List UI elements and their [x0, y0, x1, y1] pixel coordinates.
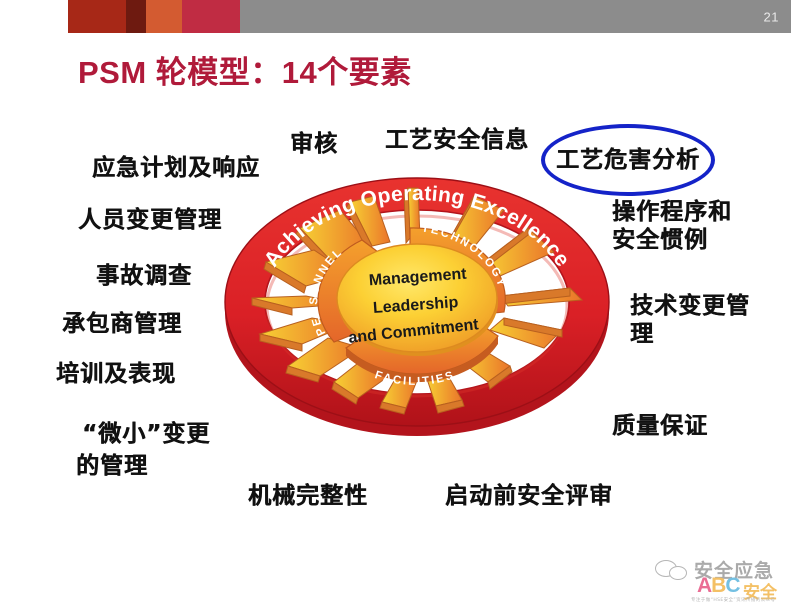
page-title: PSM 轮模型：14个要素 — [78, 47, 412, 92]
label-process-safety-information: 工艺安全信息 — [385, 126, 529, 154]
label-audit: 审核 — [290, 130, 338, 158]
watermark-fine-print: 专注于做“HSE安全”资讯传播的公众号 — [691, 597, 775, 603]
watermark-letter-c: C — [725, 574, 739, 597]
topbar-segment-1 — [68, 0, 126, 33]
label-minor-change-management-line1: “微小”变更 — [82, 420, 210, 448]
topbar-gray-band: 21 — [240, 0, 791, 33]
topbar-left-gap — [0, 0, 68, 33]
wechat-icon — [655, 558, 689, 582]
label-mechanical-integrity: 机械完整性 — [248, 482, 368, 510]
slide-top-bar: 21 — [0, 0, 791, 33]
label-contractor-management: 承包商管理 — [62, 310, 182, 338]
label-technical-change-management-line2: 理 — [630, 320, 654, 348]
label-technical-change-management-line1: 技术变更管 — [630, 292, 750, 320]
topbar-segment-3 — [146, 0, 182, 33]
label-minor-change-management-line2: 的管理 — [76, 452, 148, 480]
label-incident-investigation: 事故调查 — [96, 262, 192, 290]
label-pre-startup-safety-review: 启动前安全评审 — [445, 482, 613, 510]
label-operating-procedures-line1: 操作程序和 — [612, 198, 732, 226]
topbar-segment-4 — [182, 0, 240, 33]
watermark-abc-logo: ABC — [697, 574, 740, 598]
label-operating-procedures-line2: 安全惯例 — [612, 226, 708, 254]
watermark-letter-a: A — [697, 574, 711, 597]
channel-watermark: 安全应急 ABC 安全 专注于做“HSE安全”资讯传播的公众号 — [655, 552, 791, 604]
page-number: 21 — [764, 9, 779, 24]
psm-wheel-diagram: Achieving Operating Excellence Through O… — [222, 166, 612, 436]
label-training-performance: 培训及表现 — [56, 360, 176, 388]
watermark-letter-b: B — [711, 574, 725, 597]
label-quality-assurance: 质量保证 — [612, 412, 708, 440]
topbar-segment-2 — [126, 0, 146, 33]
label-personnel-change-management: 人员变更管理 — [78, 206, 222, 234]
